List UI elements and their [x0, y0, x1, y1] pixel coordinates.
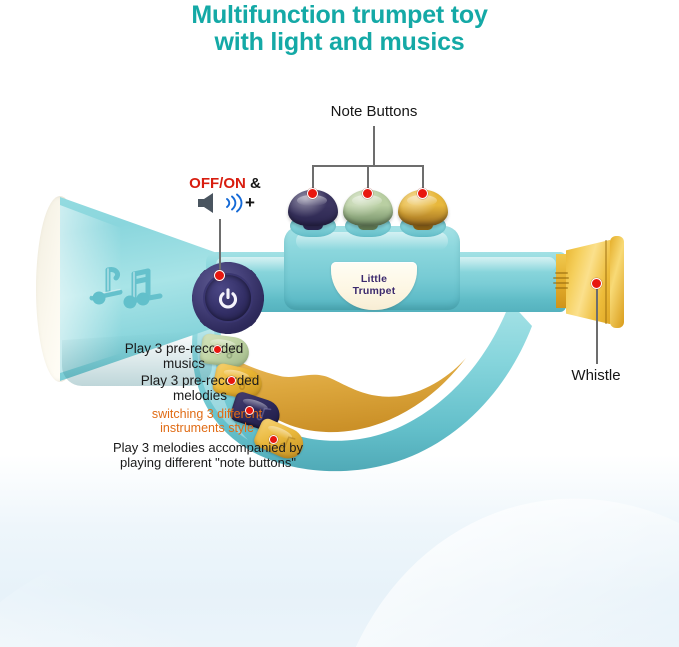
marker-dot-power: [214, 270, 225, 281]
sound-waves-icon: [224, 192, 244, 214]
marker-dot-switch: [245, 406, 254, 415]
trumpet-toy-illustration: Little Trumpet: [0, 0, 679, 480]
music-note-icon: [86, 262, 170, 314]
power-leader-line: [219, 219, 221, 273]
marker-dot-melodies: [227, 376, 236, 385]
marker-dot-note-2: [362, 188, 373, 199]
mouthpiece-ring: [610, 236, 624, 328]
whistle-vent-slits: [552, 272, 574, 294]
mouthpiece-seam: [605, 240, 607, 324]
power-icon: [217, 287, 239, 309]
product-infographic: Multifunction trumpet toy with light and…: [0, 0, 679, 647]
brand-label-text: Little Trumpet: [353, 273, 396, 297]
whistle-label: Whistle: [536, 368, 656, 383]
callout-play-3-musics: Play 3 pre-recorded musics: [108, 341, 260, 371]
power-knob[interactable]: [192, 262, 264, 334]
callout-play-melodies-accompanied: Play 3 melodies accompanied by playing d…: [93, 440, 323, 470]
plus-sign: +: [245, 193, 255, 213]
marker-dot-whistle: [591, 278, 602, 289]
marker-dot-note-3: [417, 188, 428, 199]
note-buttons-label: Note Buttons: [312, 104, 436, 119]
marker-dot-musics: [213, 345, 222, 354]
power-knob-face: [205, 275, 251, 321]
whistle-leader-line: [596, 288, 598, 364]
note-buttons-leader-stem: [373, 126, 375, 166]
marker-dot-note-1: [307, 188, 318, 199]
callout-switch-instruments: switching 3 different instruments style: [131, 407, 283, 435]
speaker-icon-group: +: [196, 188, 260, 218]
speaker-icon: [196, 190, 226, 216]
power-label: OFF/ON &: [160, 161, 290, 191]
marker-dot-accomp: [269, 435, 278, 444]
callout-play-3-melodies: Play 3 pre-recorded melodies: [124, 373, 276, 403]
